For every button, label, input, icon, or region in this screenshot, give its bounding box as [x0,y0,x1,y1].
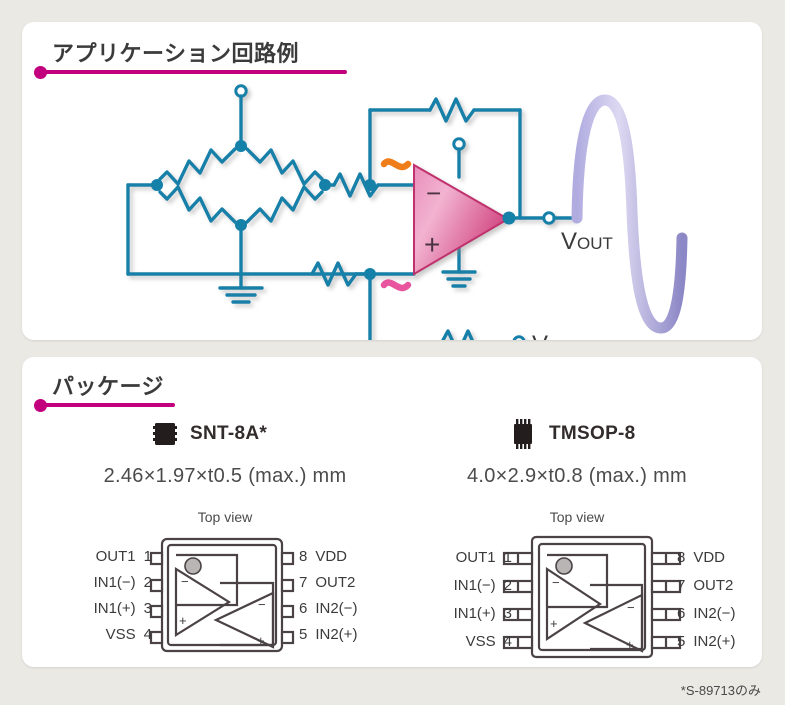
pin-label: IN1(+) [454,605,496,622]
list-item: OUT1 1 [402,543,512,571]
list-item: VSS 4 [402,627,512,655]
list-item: IN1(−) 2 [402,571,512,599]
pin-number: 1 [504,549,512,566]
pin-label: OUT1 [456,549,496,566]
list-item: 5 IN2(+) [299,621,409,647]
pin-label: IN1(−) [94,574,136,591]
pin-label: IN2(−) [693,605,735,622]
pin-label: OUT2 [315,574,355,591]
pin-number: 7 [677,577,685,594]
pin-label: IN1(+) [94,600,136,617]
pin-labels-left-tmsop: OUT1 1 IN1(−) 2 IN1(+) 3 VSS 4 [402,543,512,655]
list-item: 7 OUT2 [677,571,785,599]
pin-number: 3 [504,605,512,622]
package-name-tmsop: TMSOP-8 [549,423,636,445]
pink-signal-marker [384,283,408,288]
vref-label: V [532,331,548,340]
list-item: OUT1 1 [42,543,152,569]
list-item: VSS 4 [42,621,152,647]
pin-number: 5 [677,633,685,650]
package-dimensions-snt: 2.46×1.97×t0.5 (max.) mm [60,465,390,488]
package-name-snt: SNT-8A* [190,423,267,445]
pin-number: 4 [504,633,512,650]
terminal-labels: V OUT V REF [532,228,613,340]
svg-text:+: + [626,637,634,652]
application-circuit-schematic: − + V OUT V REF [22,22,762,340]
pin-number: 6 [299,600,307,617]
list-item: IN1(+) 3 [402,599,512,627]
pin-number: 8 [299,548,307,565]
opamp-inverting-label: − [426,178,441,208]
opamp-noninverting-label: + [424,229,440,260]
pin-number: 7 [299,574,307,591]
svg-text:−: − [181,574,189,589]
svg-text:+: + [179,613,187,628]
chip-tmsop-icon [509,419,537,449]
svg-text:−: − [552,575,560,590]
list-item: 5 IN2(+) [677,627,785,655]
pin-number: 5 [299,626,307,643]
package-card: パッケージ SNT-8A* 2.46×1.97×t0.5 (max.) mm T… [22,357,762,667]
list-item: 8 VDD [299,543,409,569]
pin-label: OUT1 [96,548,136,565]
pin-labels-right-snt: 8 VDD 7 OUT2 6 IN2(−) 5 IN2(+) [299,543,409,647]
package-topview-label-snt: Top view [60,509,390,525]
vref-sublabel: REF [548,337,582,340]
pin-label: IN2(−) [315,600,357,617]
footnote: *S-89713のみ [681,680,761,699]
pin-number: 2 [144,574,152,591]
output-waveform [577,100,682,328]
list-item: IN1(−) 2 [42,569,152,595]
svg-text:+: + [550,616,558,631]
vout-sublabel: OUT [577,234,613,253]
package-section-title: パッケージ [52,369,164,401]
pin-label: VDD [693,549,725,566]
pin-labels-right-tmsop: 8 VDD 7 OUT2 6 IN2(−) 5 IN2(+) [677,543,785,655]
pin1-indicator-dot-tmsop [556,558,572,574]
pin-number: 2 [504,577,512,594]
list-item: 7 OUT2 [299,569,409,595]
pin-label: VDD [315,548,347,565]
application-circuit-card: アプリケーション回路例 [22,22,762,340]
pin-label: OUT2 [693,577,733,594]
pin-number: 4 [144,626,152,643]
pin-number: 6 [677,605,685,622]
package-dimensions-tmsop: 4.0×2.9×t0.8 (max.) mm [412,465,742,488]
pin-number: 1 [144,548,152,565]
orange-signal-marker [384,162,408,167]
vout-label: V [561,228,577,255]
pin-label: IN2(+) [693,633,735,650]
list-item: IN1(+) 3 [42,595,152,621]
pin-label: IN1(−) [454,577,496,594]
pin-label: IN2(+) [315,626,357,643]
package-topview-label-tmsop: Top view [412,509,742,525]
list-item: 6 IN2(−) [299,595,409,621]
pin-labels-left-snt: OUT1 1 IN1(−) 2 IN1(+) 3 VSS 4 [42,543,152,647]
pin-label: VSS [466,633,496,650]
list-item: 6 IN2(−) [677,599,785,627]
pin-number: 3 [144,600,152,617]
svg-text:−: − [258,597,266,612]
svg-text:+: + [257,633,265,648]
pin1-indicator-dot-snt [185,558,201,574]
chip-snt-icon [152,421,178,447]
svg-text:−: − [627,600,635,615]
list-item: 8 VDD [677,543,785,571]
pin-label: VSS [106,626,136,643]
package-title-underline [42,403,175,407]
pin-number: 8 [677,549,685,566]
